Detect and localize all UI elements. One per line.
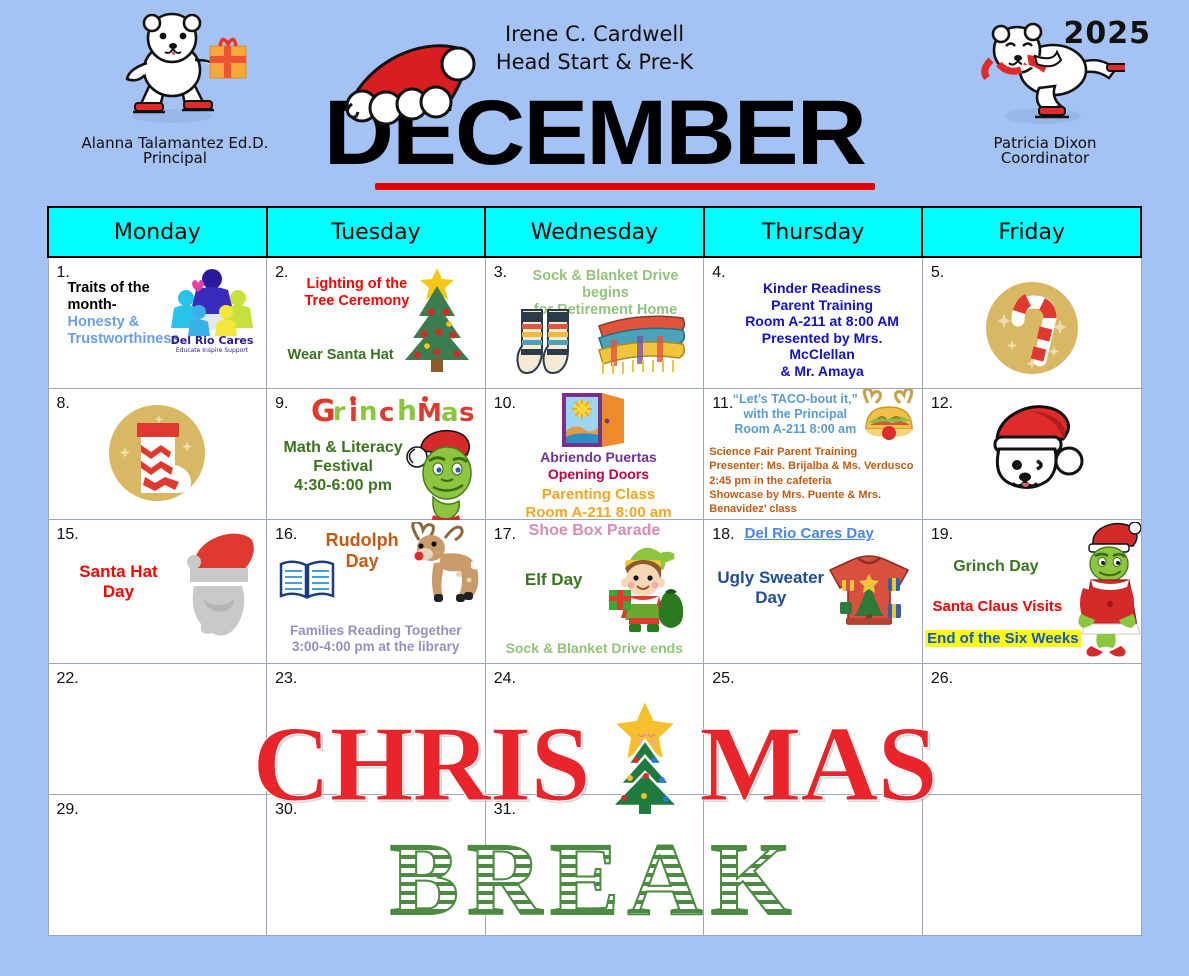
svg-text:M: M (417, 398, 442, 427)
svg-text:r: r (333, 397, 346, 426)
event-text: “Let’s TACO-bout it,” (730, 392, 860, 407)
ugly-sweater-icon (822, 554, 916, 630)
grinchmas-title-art: G r i n c h M a s (309, 391, 474, 429)
day-number: 10. (494, 395, 516, 413)
day-cell[interactable]: 4. Kinder Readiness Parent Training Room… (704, 257, 923, 389)
event-text: with the Principal (730, 407, 860, 422)
stocking-badge-icon (105, 401, 209, 505)
blanket-icon (593, 310, 689, 380)
day-cell[interactable]: 29. (48, 795, 267, 936)
day-cell[interactable]: 25. (704, 664, 923, 795)
day-number: 22. (57, 670, 79, 688)
day-number: 26. (931, 670, 953, 688)
event-text: 4:30-6:00 pm (273, 477, 413, 496)
event-text: Parenting Class (490, 486, 708, 504)
day-cell[interactable]: 12. (922, 389, 1141, 520)
rudolph-icon (401, 522, 485, 606)
event-text: Showcase by Mrs. Puente & Mrs. (709, 488, 922, 502)
event-text: Room A-211 8:00 am (730, 422, 860, 437)
weekday-header-row: Monday Tuesday Wednesday Thursday Friday (48, 207, 1141, 257)
open-door-icon (560, 391, 628, 449)
calendar-week-row: 8. (48, 389, 1141, 520)
day-cell[interactable]: 19. Grinch Day Santa Claus Visits End of… (922, 520, 1141, 664)
event-text: Opening Doors (490, 466, 708, 483)
calendar-week-row: 15. Santa Hat Day 16. (48, 520, 1141, 664)
event-text: Families Reading Together (269, 623, 482, 639)
event-text: Kinder Readiness (727, 280, 917, 297)
day-cell[interactable]: 17. Shoe Box Parade Elf Day (485, 520, 704, 664)
day-number: 12. (931, 395, 953, 413)
day-number: 11. (712, 395, 733, 413)
day-number: 23. (275, 670, 297, 688)
day-number: 1. (57, 264, 70, 282)
grinch-santa-icon (1073, 522, 1141, 662)
day-cell[interactable]: 10. Abriendo Puertas Opening Doors Paren… (485, 389, 704, 520)
event-text: Santa Claus Visits (925, 598, 1070, 616)
grinch-face-icon (403, 427, 481, 523)
day-cell[interactable]: 26. (922, 664, 1141, 795)
event-text: Room A-211 at 8:00 AM (727, 313, 917, 330)
day-number: 9. (275, 395, 288, 413)
svg-text:i: i (349, 398, 358, 428)
calendar-header: Alanna Talamantez Ed.D. Principal Irene … (0, 0, 1189, 200)
santa-hat-beard-icon (178, 526, 258, 646)
day-number: 30. (275, 801, 297, 819)
day-number: 5. (931, 264, 944, 282)
day-number: 8. (57, 395, 70, 413)
event-text: Day (708, 588, 833, 608)
day-cell[interactable]: 1. Traits of the month- Honesty & Trustw… (48, 257, 267, 389)
day-cell[interactable] (704, 795, 923, 936)
svg-text:h: h (397, 394, 417, 427)
weekday-header-friday: Friday (922, 207, 1141, 257)
day-cell[interactable]: 23. (267, 664, 486, 795)
event-text: & Mr. Amaya (727, 363, 917, 380)
event-text: Sock & Blanket Drive ends (488, 640, 701, 657)
socks-icon (510, 306, 582, 382)
svg-text:Del Rio Cares: Del Rio Cares (171, 334, 254, 347)
day-cell[interactable] (922, 795, 1141, 936)
event-text: Day (59, 582, 179, 602)
day-number: 24. (494, 670, 516, 688)
taco-reindeer-icon (858, 389, 920, 445)
calendar-year: 2025 (1064, 16, 1152, 51)
day-cell[interactable]: 9. G r i n c h M a s (267, 389, 486, 520)
day-number: 29. (57, 801, 79, 819)
day-cell[interactable]: 11. “Let’s TACO-bout it,” with the Princ… (704, 389, 923, 520)
day-number: 25. (712, 670, 734, 688)
coordinator-title: Coordinator (930, 149, 1160, 168)
day-cell[interactable]: 3. Sock & Blanket Drive begins for Retir… (485, 257, 704, 389)
event-text: Rudolph (317, 530, 407, 551)
event-text: Grinch Day (931, 558, 1061, 577)
santa-hat-icon (336, 42, 476, 134)
event-text: Santa Hat (59, 562, 179, 582)
svg-text:Educate Inspire Support: Educate Inspire Support (176, 347, 249, 354)
weekday-header-monday: Monday (48, 207, 267, 257)
weekday-header-thursday: Thursday (704, 207, 923, 257)
event-text: Sock & Blanket Drive begins (513, 268, 699, 302)
event-text: Festival (273, 458, 413, 477)
event-text: Wear Santa Hat (273, 347, 408, 364)
weekday-header-tuesday: Tuesday (267, 207, 486, 257)
open-book-icon (279, 558, 335, 600)
day-number: 15. (57, 526, 79, 544)
day-cell[interactable]: 30. (267, 795, 486, 936)
event-link[interactable]: Del Rio Cares Day (724, 525, 894, 543)
day-cell[interactable]: 2. Lighting of the Tree Ceremony Wear Sa… (267, 257, 486, 389)
event-text: Presenter: Ms. Brijalba & Ms. Verdusco (709, 459, 922, 473)
calendar-week-row: 1. Traits of the month- Honesty & Trustw… (48, 257, 1141, 389)
svg-text:n: n (359, 397, 378, 427)
highlighted-event-text: End of the Six Weeks (925, 630, 1080, 647)
svg-text:a: a (441, 398, 459, 428)
svg-text:c: c (379, 398, 394, 428)
day-cell[interactable]: 5. (922, 257, 1141, 389)
day-cell[interactable]: 31. (485, 795, 704, 936)
event-text: Math & Literacy (273, 439, 413, 458)
calendar-week-row-christmas: 22. 23. 24. 25. 26. (48, 664, 1141, 795)
event-text: Science Fair Parent Training (709, 445, 922, 459)
day-number: 18. (712, 526, 734, 544)
event-text: Elf Day (504, 570, 604, 590)
polar-bear-santa-hat-icon (977, 403, 1087, 503)
day-cell[interactable]: 15. Santa Hat Day (48, 520, 267, 664)
event-text: Abriendo Puertas (490, 449, 708, 466)
day-number: 31. (494, 801, 516, 819)
day-number: 3. (494, 264, 507, 282)
weekday-header-wednesday: Wednesday (485, 207, 704, 257)
event-text: Benavidez’ class (709, 502, 922, 516)
event-text: Parent Training (727, 297, 917, 314)
svg-text:s: s (459, 398, 474, 428)
day-cell[interactable]: 18. Del Rio Cares Day Ugly Sweater Day (704, 520, 923, 664)
calendar-week-row-break: 29. 30. 31. (48, 795, 1141, 936)
day-cell[interactable]: 22. (48, 664, 267, 795)
day-number: 4. (712, 264, 725, 282)
day-cell[interactable]: 8. (48, 389, 267, 520)
del-rio-cares-logo: Del Rio Cares Educate Inspire Support (166, 266, 258, 354)
day-cell[interactable]: 16. Rudolph Day (267, 520, 486, 664)
candy-cane-badge-icon (982, 278, 1082, 378)
event-text: Presented by Mrs. McClellan (727, 330, 917, 363)
title-underline-rule (375, 183, 875, 190)
event-text: 3:00-4:00 pm at the library (269, 639, 482, 655)
elf-icon (599, 538, 689, 634)
event-text: 2:45 pm in the cafeteria (709, 474, 922, 488)
event-text: Ugly Sweater (708, 568, 833, 588)
day-number: 17. (494, 526, 516, 544)
christmas-tree-icon (391, 264, 483, 374)
day-cell[interactable]: 24. (485, 664, 704, 795)
day-number: 19. (931, 526, 953, 544)
calendar-grid: Monday Tuesday Wednesday Thursday Friday… (47, 206, 1142, 936)
day-number: 2. (275, 264, 288, 282)
day-number: 16. (275, 526, 297, 544)
svg-text:G: G (311, 394, 336, 429)
